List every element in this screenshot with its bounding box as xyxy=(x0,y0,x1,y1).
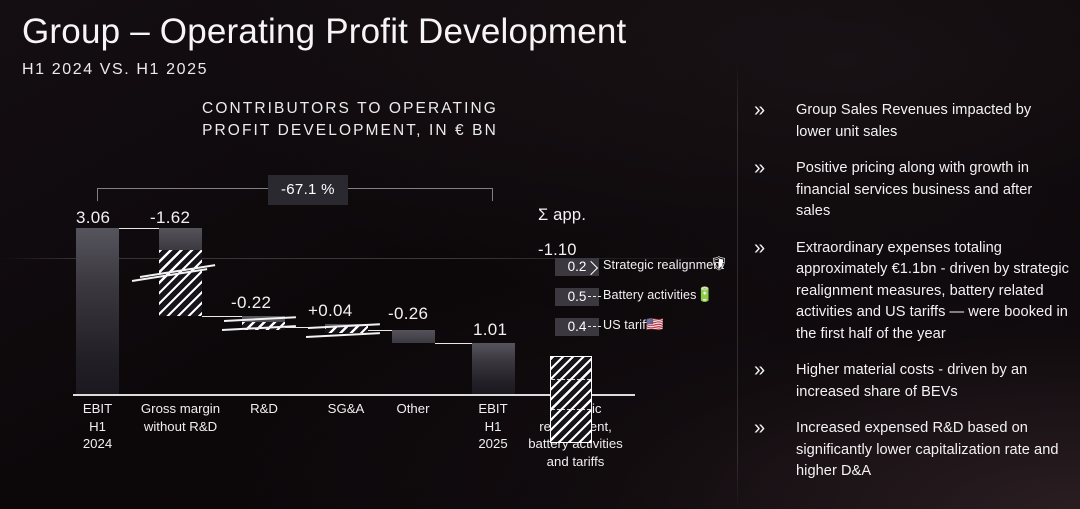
bar-value-gross-margin: -1.62 xyxy=(150,208,190,228)
list-item-text: Higher material costs - driven by an inc… xyxy=(796,360,1070,403)
porsche-crest-icon: 🛡 xyxy=(710,256,728,270)
xlabel-other: Other xyxy=(377,400,449,418)
slide-root: Group – Operating Profit Development H1 … xyxy=(0,0,1080,509)
battery-icon: 🔋 xyxy=(696,287,713,301)
xlabel-other-l1: Other xyxy=(377,400,449,418)
xlabel-ebit-2024-l2: H1 xyxy=(60,418,135,436)
list-item: » Higher material costs - driven by an i… xyxy=(752,360,1070,403)
us-flag-icon: 🇺🇸 xyxy=(646,317,663,331)
xlabel-rd-l1: R&D xyxy=(228,400,300,418)
xlabel-gross-margin-l1: Gross margin xyxy=(128,400,233,418)
sigma-segment-separator-2 xyxy=(552,409,590,410)
list-item: » Positive pricing along with growth in … xyxy=(752,158,1070,223)
slide-header: Group – Operating Profit Development H1 … xyxy=(22,14,626,79)
chevron-double-right-icon: » xyxy=(752,418,796,439)
chart-plot-area: -67.1 % 3.06 -1.62 -0.22 +0.04 -0.26 1.0… xyxy=(0,98,737,509)
sigma-segment-separator-1 xyxy=(552,379,590,380)
sigma-dash-battery-icon xyxy=(588,296,601,297)
sigma-chip-tariffs: 0.4 xyxy=(555,318,599,336)
xlabel-ebit-2024: EBIT H1 2024 xyxy=(60,400,135,453)
list-item-text: Group Sales Revenues impacted by lower u… xyxy=(796,100,1070,143)
connector-ebit2024-grossmargin xyxy=(119,228,159,229)
list-item: » Group Sales Revenues impacted by lower… xyxy=(752,100,1070,143)
list-item: » Increased expensed R&D based on signif… xyxy=(752,418,1070,483)
bar-gross-margin-cap xyxy=(159,228,202,250)
connector-grossmargin-rd xyxy=(202,316,242,317)
sigma-chip-battery: 0.5 xyxy=(555,288,599,306)
xlabel-sga: SG&A xyxy=(310,400,382,418)
sigma-legend-label-strategic: Strategic realignment xyxy=(603,258,724,272)
connector-sga-other xyxy=(368,330,392,331)
xlabel-gross-margin-l2: without R&D xyxy=(128,418,233,436)
chevron-double-right-icon: » xyxy=(752,100,796,121)
sigma-legend-label-battery: Battery activities xyxy=(603,288,697,302)
xlabel-ebit-2024-l1: EBIT xyxy=(60,400,135,418)
list-item: » Extraordinary expenses totaling approx… xyxy=(752,238,1070,346)
waterfall-chart: CONTRIBUTORS TO OPERATING PROFIT DEVELOP… xyxy=(0,98,737,509)
bar-ebit-2024 xyxy=(76,228,119,394)
commentary-list: » Group Sales Revenues impacted by lower… xyxy=(752,100,1070,498)
list-item-text: Increased expensed R&D based on signific… xyxy=(796,418,1070,483)
bar-value-sga: +0.04 xyxy=(308,301,353,321)
page-subtitle: H1 2024 VS. H1 2025 xyxy=(22,61,626,79)
bar-value-ebit-2025: 1.01 xyxy=(473,320,507,340)
sigma-stacked-bar xyxy=(550,356,592,443)
xlabel-strategic-l4: and tariffs xyxy=(518,453,633,471)
list-item-text: Positive pricing along with growth in fi… xyxy=(796,158,1070,223)
xlabel-ebit-2024-l3: 2024 xyxy=(60,435,135,453)
sigma-label: Σ app. xyxy=(538,206,586,225)
bar-value-ebit-2024: 3.06 xyxy=(76,208,110,228)
sigma-callout: Σ app. -1.10 xyxy=(538,206,586,260)
bar-other xyxy=(392,330,435,343)
bar-ebit-2025 xyxy=(472,343,515,394)
bar-gross-margin-hatch xyxy=(159,250,202,316)
xlabel-rd: R&D xyxy=(228,400,300,418)
connector-other-ebit2025 xyxy=(435,343,472,344)
bar-value-other: -0.26 xyxy=(388,304,428,324)
chevron-double-right-icon: » xyxy=(752,360,796,381)
panel-divider xyxy=(737,62,738,509)
sigma-dash-tariffs-icon xyxy=(588,326,601,327)
chevron-double-right-icon: » xyxy=(752,238,796,259)
delta-badge: -67.1 % xyxy=(268,175,348,205)
bar-value-rd: -0.22 xyxy=(231,293,271,313)
xlabel-gross-margin: Gross margin without R&D xyxy=(128,400,233,435)
chevron-double-right-icon: » xyxy=(752,158,796,179)
page-title: Group – Operating Profit Development xyxy=(22,14,626,49)
xlabel-sga-l1: SG&A xyxy=(310,400,382,418)
list-item-text: Extraordinary expenses totaling approxim… xyxy=(796,238,1070,346)
